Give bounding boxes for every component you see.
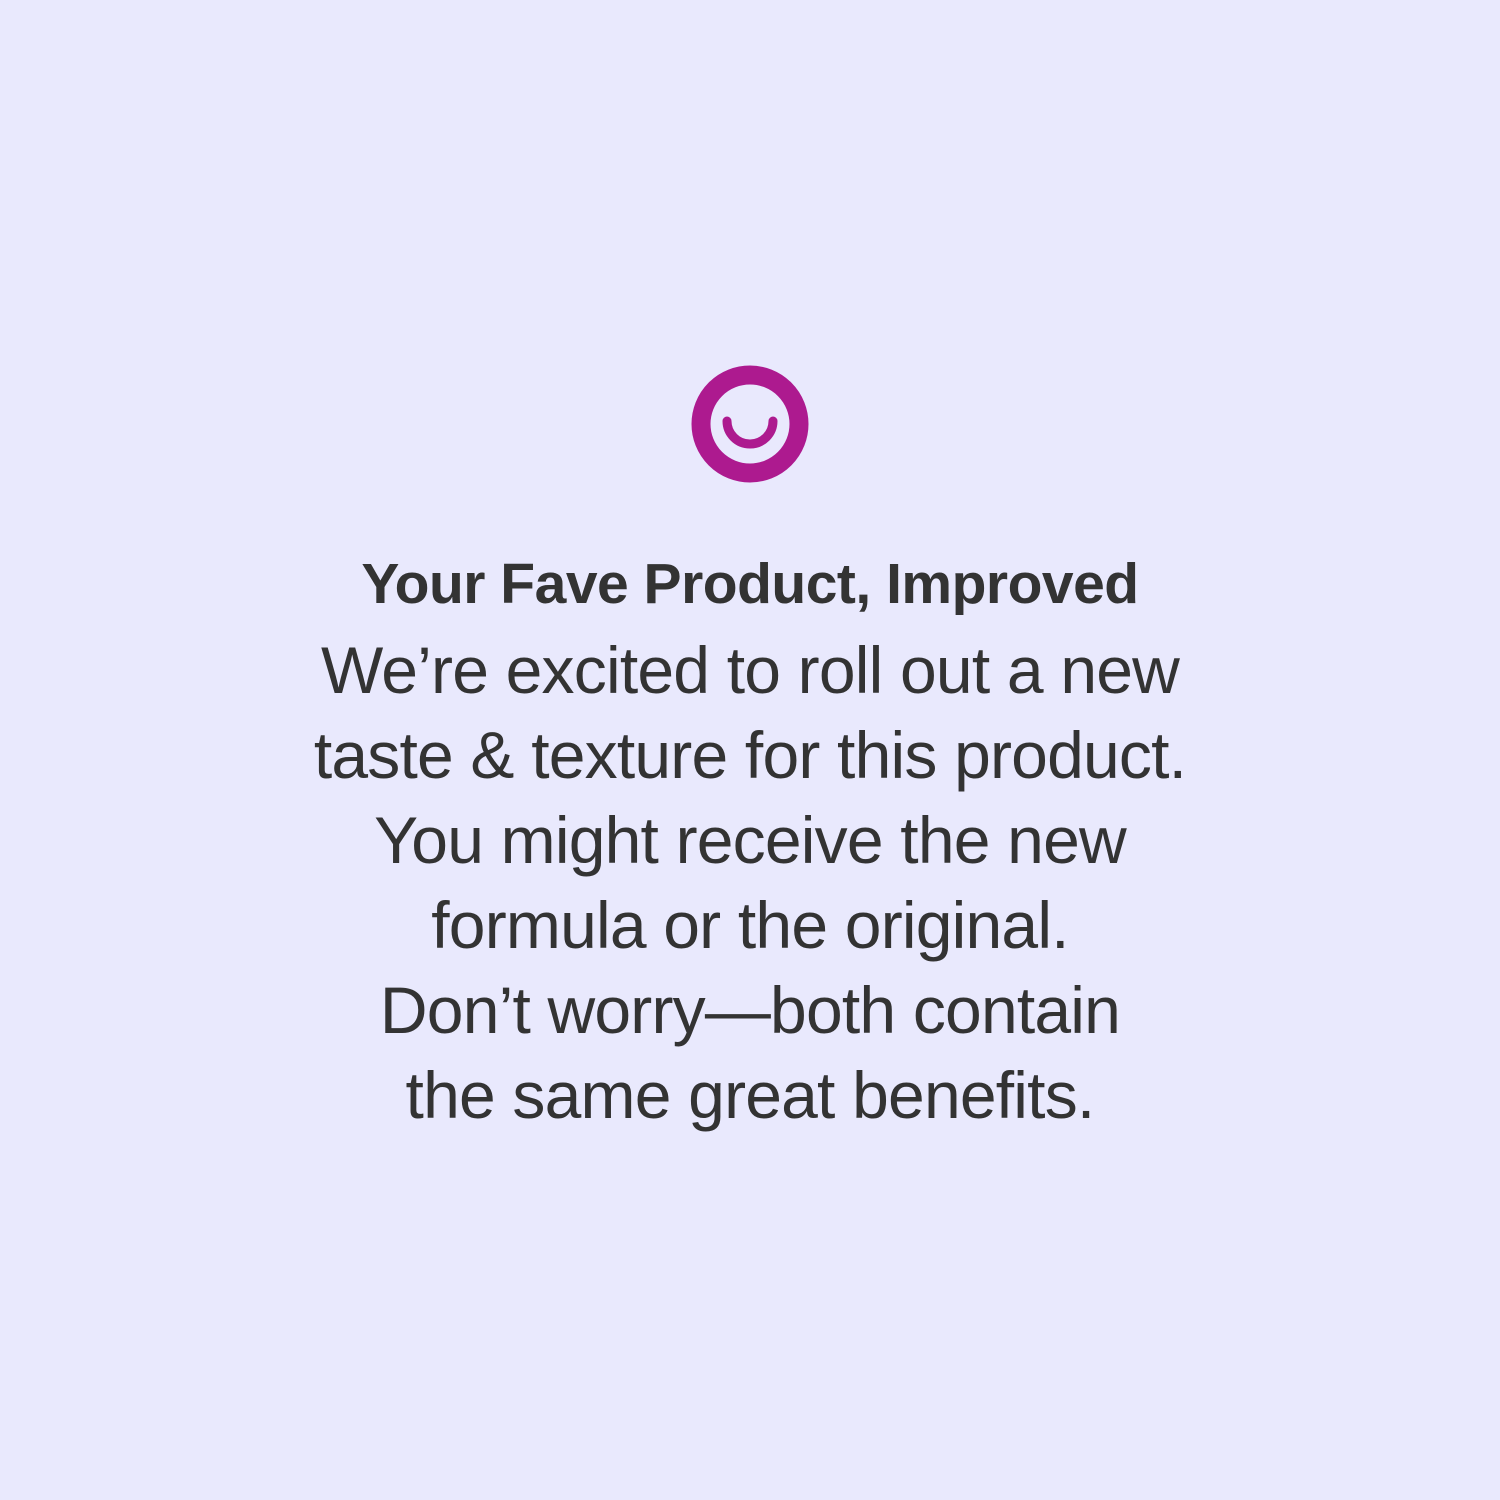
body-line-5: Don’t worry—both contain bbox=[0, 968, 1500, 1053]
logo-ring bbox=[701, 375, 799, 473]
page-title: Your Fave Product, Improved bbox=[0, 552, 1500, 618]
body-line-6: the same great benefits. bbox=[0, 1053, 1500, 1138]
smile-circle-icon bbox=[691, 365, 809, 483]
body-copy: We’re excited to roll out a new taste & … bbox=[0, 628, 1500, 1138]
body-line-4: formula or the original. bbox=[0, 883, 1500, 968]
body-line-1: We’re excited to roll out a new bbox=[0, 628, 1500, 713]
logo-smile-arc bbox=[727, 421, 773, 444]
product-notice-card: Your Fave Product, Improved We’re excite… bbox=[0, 0, 1500, 1500]
body-line-2: taste & texture for this product. bbox=[0, 713, 1500, 798]
brand-logo bbox=[0, 365, 1500, 483]
body-line-3: You might receive the new bbox=[0, 798, 1500, 883]
